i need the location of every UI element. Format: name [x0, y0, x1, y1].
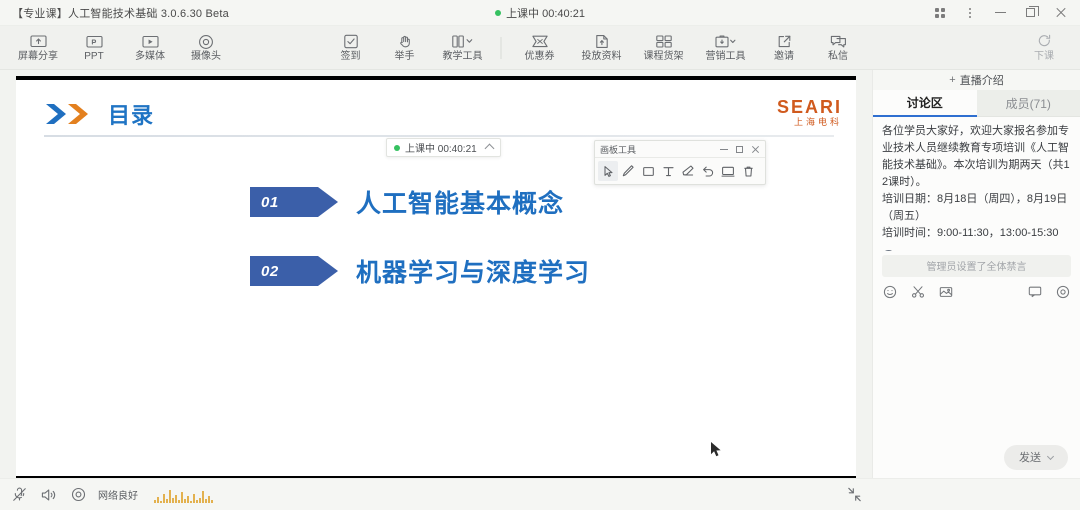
trash-icon[interactable] [738, 161, 758, 181]
floating-timer-text: 上课中 00:40:21 [405, 140, 477, 155]
toolbar-check-in[interactable]: 签到 [325, 28, 377, 68]
toolbar-end-class-label: 下课 [1034, 52, 1054, 62]
chat-message-body: 各位学员大家好，欢迎大家报名参加专业技术人员继续教育专项培训《人工智能技术基础》… [882, 123, 1071, 242]
drawing-panel-header[interactable]: 画板工具 [595, 141, 765, 158]
title-bar: 【专业课】人工智能技术基础 3.0.6.30 Beta 上课中 00:40:21 [0, 0, 1080, 26]
toolbar-raise-hand[interactable]: 举手 [379, 28, 431, 68]
toolbar-check-in-label: 签到 [341, 52, 361, 62]
quick-reply-icon[interactable] [1028, 285, 1042, 298]
chat-message-list[interactable]: 各位学员大家好，欢迎大家报名参加专业技术人员继续教育专项培训《人工智能技术基础》… [873, 117, 1080, 251]
toolbar-marketing-tools[interactable]: 营销工具 [696, 28, 756, 68]
main-toolbar: 屏幕分享 PPT 多媒体 [0, 26, 1080, 70]
layout-grid-button[interactable] [926, 1, 954, 25]
live-intro-banner[interactable]: + 直播介绍 [873, 70, 1080, 90]
brand-logo: SEARI 上海电科 [777, 98, 842, 127]
whiteboard-icon[interactable] [718, 161, 738, 181]
stage-area: 目录 SEARI 上海电科 01 人工智能基本概念 [0, 70, 872, 478]
toolbar-camera[interactable]: 摄像头 [180, 28, 232, 68]
eraser-icon[interactable] [678, 161, 698, 181]
class-status: 上课中 00:40:21 [495, 5, 585, 21]
toolbar-invite-label: 邀请 [774, 52, 794, 62]
toolbar-screen-share-label: 屏幕分享 [18, 52, 58, 62]
toolbar-camera-label: 摄像头 [191, 52, 221, 62]
chat-input-field[interactable] [883, 309, 1070, 329]
send-button[interactable]: 发送 [1004, 445, 1068, 470]
toc-number-badge: 01 [250, 187, 318, 217]
maximize-button[interactable] [1016, 1, 1044, 25]
drawing-panel-window-controls [720, 145, 760, 154]
collapse-fullscreen-icon[interactable] [845, 486, 863, 504]
toolbar-teaching-tools-label: 教学工具 [443, 52, 483, 62]
app-body: 目录 SEARI 上海电科 01 人工智能基本概念 [0, 70, 1080, 478]
toolbar-center-group: 签到 举手 教学工具 [325, 26, 756, 69]
chevron-down-icon[interactable] [1047, 452, 1054, 459]
chevron-decoration-icon [44, 101, 98, 127]
toolbar-screen-share[interactable]: 屏幕分享 [12, 28, 64, 68]
toc-number-badge: 02 [250, 256, 318, 286]
toolbar-marketing-tools-label: 营销工具 [706, 52, 746, 62]
chevron-up-icon[interactable] [484, 144, 494, 154]
send-button-label: 发送 [1019, 449, 1041, 465]
minimize-button[interactable] [986, 1, 1014, 25]
toc-number: 02 [250, 263, 279, 280]
tab-discussion[interactable]: 讨论区 [873, 90, 977, 117]
more-options-button[interactable] [956, 1, 984, 25]
close-button[interactable] [1046, 1, 1074, 25]
private-message-icon [830, 33, 847, 50]
more-icon [969, 8, 971, 18]
drawing-panel-title: 画板工具 [600, 143, 636, 156]
drawing-panel-toolbar [595, 158, 765, 184]
image-icon[interactable] [939, 285, 953, 299]
slide-frame: 目录 SEARI 上海电科 01 人工智能基本概念 [16, 76, 856, 480]
marketing-tools-icon [715, 33, 737, 50]
emoji-icon[interactable] [883, 285, 897, 299]
slide-toc-list: 01 人工智能基本概念 02 机器学习与深度学习 [250, 184, 590, 289]
drawing-tools-panel: 画板工具 [594, 140, 766, 185]
minimize-icon [995, 12, 1006, 13]
brand-name-en: SEARI [777, 98, 842, 116]
chat-message-header: 助教 祝妤欣 [882, 249, 1071, 250]
close-icon [1055, 7, 1066, 18]
ppt-icon [86, 33, 103, 50]
live-dot-icon [495, 10, 501, 16]
camera-round-icon[interactable] [71, 487, 86, 502]
push-material-icon [594, 33, 609, 50]
cursor-icon[interactable] [598, 161, 618, 181]
chat-input-toolbar [873, 277, 1080, 307]
toc-label: 机器学习与深度学习 [356, 253, 590, 289]
coupon-icon [531, 33, 548, 50]
toolbar-push-material-label: 投放资料 [582, 52, 622, 62]
raise-hand-icon [397, 33, 412, 50]
media-icon [142, 33, 159, 50]
toolbar-separator [501, 37, 502, 59]
toolbar-multimedia[interactable]: 多媒体 [124, 28, 176, 68]
toc-label: 人工智能基本概念 [356, 184, 564, 220]
bottom-status-bar: 网络良好 [0, 478, 1080, 510]
mic-muted-icon[interactable] [12, 487, 27, 502]
chat-panel: + 直播介绍 讨论区 成员(71) 各位学员大家好，欢迎大家报名参加专业技术人员… [872, 70, 1080, 478]
speaker-icon[interactable] [41, 488, 57, 502]
toolbar-push-material[interactable]: 投放资料 [572, 28, 632, 68]
rectangle-icon[interactable] [638, 161, 658, 181]
sender-name: 祝妤欣 [925, 249, 955, 250]
maximize-icon [1026, 8, 1035, 17]
settings-icon[interactable] [1056, 285, 1070, 299]
chat-tabs: 讨论区 成员(71) [873, 90, 1080, 117]
network-status-label: 网络良好 [98, 487, 138, 502]
chat-send-row: 发送 [873, 436, 1080, 478]
toolbar-course-shelf[interactable]: 课程货架 [634, 28, 694, 68]
text-icon[interactable] [658, 161, 678, 181]
close-icon[interactable] [751, 145, 760, 154]
toolbar-invite[interactable]: 邀请 [758, 28, 810, 68]
floating-class-timer[interactable]: 上课中 00:40:21 [386, 138, 501, 157]
toolbar-course-shelf-label: 课程货架 [644, 52, 684, 62]
check-in-icon [343, 33, 358, 50]
slide-title-underline [44, 135, 834, 137]
chat-input-area[interactable] [873, 307, 1080, 437]
window-title: 【专业课】人工智能技术基础 3.0.6.30 Beta [0, 5, 229, 21]
toc-item: 01 人工智能基本概念 [250, 184, 590, 220]
toolbar-left-group: 屏幕分享 PPT 多媒体 [0, 26, 232, 69]
undo-icon[interactable] [698, 161, 718, 181]
scissors-icon[interactable] [911, 285, 925, 299]
toolbar-teaching-tools[interactable]: 教学工具 [433, 28, 493, 68]
live-intro-label: 直播介绍 [960, 72, 1004, 88]
toolbar-raise-hand-label: 举手 [395, 52, 415, 62]
network-signal-icon [154, 487, 213, 503]
brand-name-cn: 上海电科 [794, 118, 842, 127]
toc-number: 01 [250, 194, 279, 211]
toolbar-private-message-label: 私信 [828, 52, 848, 62]
maximize-icon[interactable] [736, 146, 743, 153]
mute-notice: 管理员设置了全体禁言 [882, 255, 1071, 277]
chat-message: 各位学员大家好，欢迎大家报名参加专业技术人员继续教育专项培训《人工智能技术基础》… [882, 123, 1071, 242]
live-class-app-window: 【专业课】人工智能技术基础 3.0.6.30 Beta 上课中 00:40:21 [0, 0, 1080, 510]
toc-item: 02 机器学习与深度学习 [250, 253, 590, 289]
grid-icon [935, 8, 945, 18]
invite-icon [777, 33, 792, 50]
toolbar-ppt-label: PPT [84, 52, 103, 62]
toolbar-coupon-label: 优惠券 [525, 52, 555, 62]
camera-icon [198, 33, 214, 50]
toolbar-multimedia-label: 多媒体 [135, 52, 165, 62]
slide-title-row: 目录 [44, 98, 826, 130]
toolbar-private-message[interactable]: 私信 [812, 28, 864, 68]
toolbar-ppt[interactable]: PPT [68, 28, 120, 68]
toolbar-end-class[interactable]: 下课 [1018, 28, 1070, 68]
window-controls [926, 1, 1080, 25]
toolbar-coupon[interactable]: 优惠券 [510, 28, 570, 68]
plus-icon: + [949, 75, 955, 86]
pen-icon[interactable] [618, 161, 638, 181]
screen-share-icon [30, 33, 47, 50]
class-status-text: 上课中 00:40:21 [506, 5, 585, 21]
teaching-tools-icon [452, 33, 474, 50]
tab-members[interactable]: 成员(71) [977, 90, 1080, 117]
end-class-icon [1037, 33, 1052, 50]
toolbar-right-group: 邀请 私信 下课 [758, 26, 1080, 69]
live-dot-icon [394, 145, 400, 151]
slide-title: 目录 [108, 98, 154, 130]
chat-message: 助教 祝妤欣 注意事项： 1、请各位学员准时参加并于9:00和13:00完成签到… [882, 249, 1071, 250]
course-shelf-icon [655, 33, 672, 50]
minimize-icon[interactable] [720, 149, 728, 150]
